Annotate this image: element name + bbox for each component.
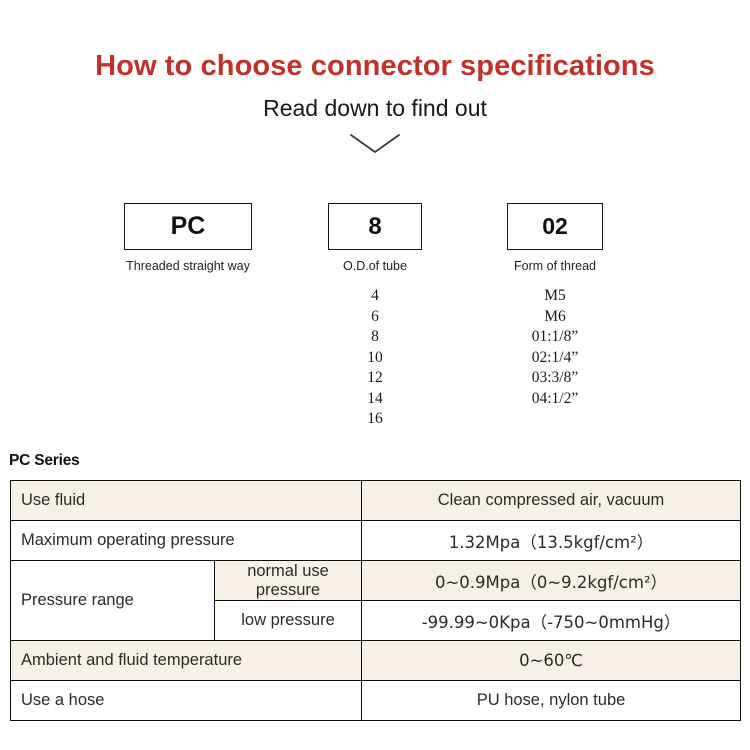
spec-table: Use fluid Clean compressed air, vacuum M… — [10, 480, 741, 721]
thread-option[interactable]: 01:1/8” — [490, 327, 620, 348]
page-subtitle: Read down to find out — [0, 93, 750, 123]
page-title: How to choose connector specifications — [0, 48, 750, 84]
thread-option[interactable]: 03:3/8” — [490, 368, 620, 389]
row-label: Pressure range — [11, 561, 215, 641]
row-value: 1.32Mpa（13.5kgf/cm²） — [362, 521, 741, 561]
thread-option-list: M5 M6 01:1/8” 02:1/4” 03:3/8” 04:1/2” — [490, 286, 620, 409]
selector-caption-od: O.D.of tube — [318, 258, 432, 274]
table-row: Use a hose PU hose, nylon tube — [11, 681, 741, 721]
row-sub-label: low pressure — [215, 601, 362, 641]
chevron-down-icon — [347, 132, 403, 156]
table-row: Use fluid Clean compressed air, vacuum — [11, 481, 741, 521]
od-option[interactable]: 14 — [318, 389, 432, 410]
selector-box-thread: 02 — [507, 203, 603, 250]
thread-option[interactable]: 02:1/4” — [490, 348, 620, 369]
selector-caption-series: Threaded straight way — [104, 258, 272, 274]
row-value: 0~0.9Mpa（0~9.2kgf/cm²） — [362, 561, 741, 601]
row-label: Maximum operating pressure — [11, 521, 362, 561]
row-label: Ambient and fluid temperature — [11, 641, 362, 681]
od-option[interactable]: 8 — [318, 327, 432, 348]
table-row: Ambient and fluid temperature 0~60℃ — [11, 641, 741, 681]
thread-option[interactable]: 04:1/2” — [490, 389, 620, 410]
selector-box-series: PC — [124, 203, 252, 250]
row-value: -99.99~0Kpa（-750~0mmHg） — [362, 601, 741, 641]
row-label: Use fluid — [11, 481, 362, 521]
table-row: Maximum operating pressure 1.32Mpa（13.5k… — [11, 521, 741, 561]
od-option[interactable]: 4 — [318, 286, 432, 307]
row-label: Use a hose — [11, 681, 362, 721]
table-row: Pressure range normal use pressure 0~0.9… — [11, 561, 741, 601]
spec-table-label: PC Series — [9, 452, 80, 470]
od-option-list: 4 6 8 10 12 14 16 — [318, 286, 432, 430]
row-value: 0~60℃ — [362, 641, 741, 681]
thread-option[interactable]: M5 — [490, 286, 620, 307]
od-option[interactable]: 12 — [318, 368, 432, 389]
selector-caption-thread: Form of thread — [495, 258, 615, 274]
row-value: PU hose, nylon tube — [362, 681, 741, 721]
selector-box-od: 8 — [328, 203, 422, 250]
od-option[interactable]: 6 — [318, 307, 432, 328]
thread-option[interactable]: M6 — [490, 307, 620, 328]
row-sub-label: normal use pressure — [215, 561, 362, 601]
od-option[interactable]: 16 — [318, 409, 432, 430]
row-value: Clean compressed air, vacuum — [362, 481, 741, 521]
od-option[interactable]: 10 — [318, 348, 432, 369]
